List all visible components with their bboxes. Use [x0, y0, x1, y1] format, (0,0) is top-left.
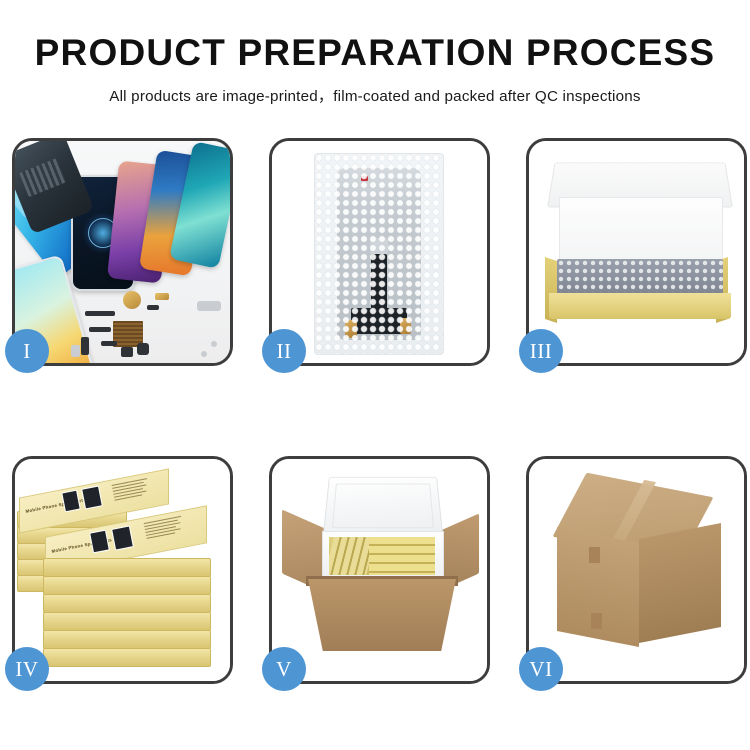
step-panel-6[interactable]: VI: [526, 456, 747, 684]
step-4-image: Mobile Phone Spare Parts Mobile Phone Sp…: [15, 459, 230, 681]
part-screw-icon: [211, 341, 217, 347]
part-antenna-icon: [85, 311, 115, 316]
step-badge-5: V: [262, 647, 306, 691]
page-subtitle: All products are image-printed，film-coat…: [0, 84, 750, 106]
part-connector-icon: [81, 337, 89, 355]
tray-front-wall-icon: [549, 293, 731, 319]
step-2-image: [272, 141, 487, 363]
bubble-texture-icon: [315, 154, 443, 354]
carton-body-icon: [308, 579, 456, 651]
step-panel-2[interactable]: II: [269, 138, 490, 366]
box-screen-image-front-2: [111, 525, 134, 550]
part-sim-tray-icon: [71, 345, 80, 357]
step-panel-5[interactable]: V: [269, 456, 490, 684]
product-preparation-infographic: PRODUCT PREPARATION PROCESS All products…: [0, 0, 750, 750]
step-panel-4[interactable]: Mobile Phone Spare Parts Mobile Phone Sp…: [12, 456, 233, 684]
foam-lid-icon: [323, 477, 444, 537]
step-1-image: [15, 141, 230, 363]
gray-foam-padding-icon: [557, 259, 723, 297]
carton-seam-bottom-icon: [591, 613, 602, 629]
stacked-box-front-5: [43, 630, 211, 649]
box-screen-image-rear-2: [81, 485, 103, 509]
part-camera-icon: [121, 347, 133, 357]
steps-grid: I II: [12, 138, 738, 684]
step-3-image: [529, 141, 744, 363]
stacked-box-front-3: [43, 594, 211, 613]
step-badge-6: VI: [519, 647, 563, 691]
header: PRODUCT PREPARATION PROCESS All products…: [0, 0, 750, 106]
part-vibrator-icon: [155, 293, 169, 300]
stacked-box-front-2: [43, 576, 211, 595]
stacked-box-front-4: [43, 612, 211, 631]
part-screw-2-icon: [201, 351, 207, 357]
step-badge-1: I: [5, 329, 49, 373]
step-badge-3: III: [519, 329, 563, 373]
carton-side-face-icon: [639, 523, 721, 643]
step-badge-2: II: [262, 329, 306, 373]
stacked-box-front-1: [43, 558, 211, 577]
carton-seam-top-icon: [589, 547, 600, 563]
bubble-wrap-bag-icon: [314, 153, 444, 355]
part-flex-cable-icon: [89, 327, 111, 332]
page-title: PRODUCT PREPARATION PROCESS: [0, 34, 750, 71]
step-badge-4: IV: [5, 647, 49, 691]
gold-boxes-inside-icon: [329, 537, 435, 575]
part-battery-icon: [137, 343, 149, 355]
part-button-flex-icon: [147, 305, 159, 310]
part-speaker-icon: [123, 291, 141, 309]
step-panel-1[interactable]: I: [12, 138, 233, 366]
step-6-image: [529, 459, 744, 681]
stacked-box-front-6: [43, 648, 211, 667]
part-tweezers-icon: [197, 301, 221, 311]
part-small-flex-icon: [101, 341, 117, 346]
step-5-image: [272, 459, 487, 681]
step-panel-3[interactable]: III: [526, 138, 747, 366]
